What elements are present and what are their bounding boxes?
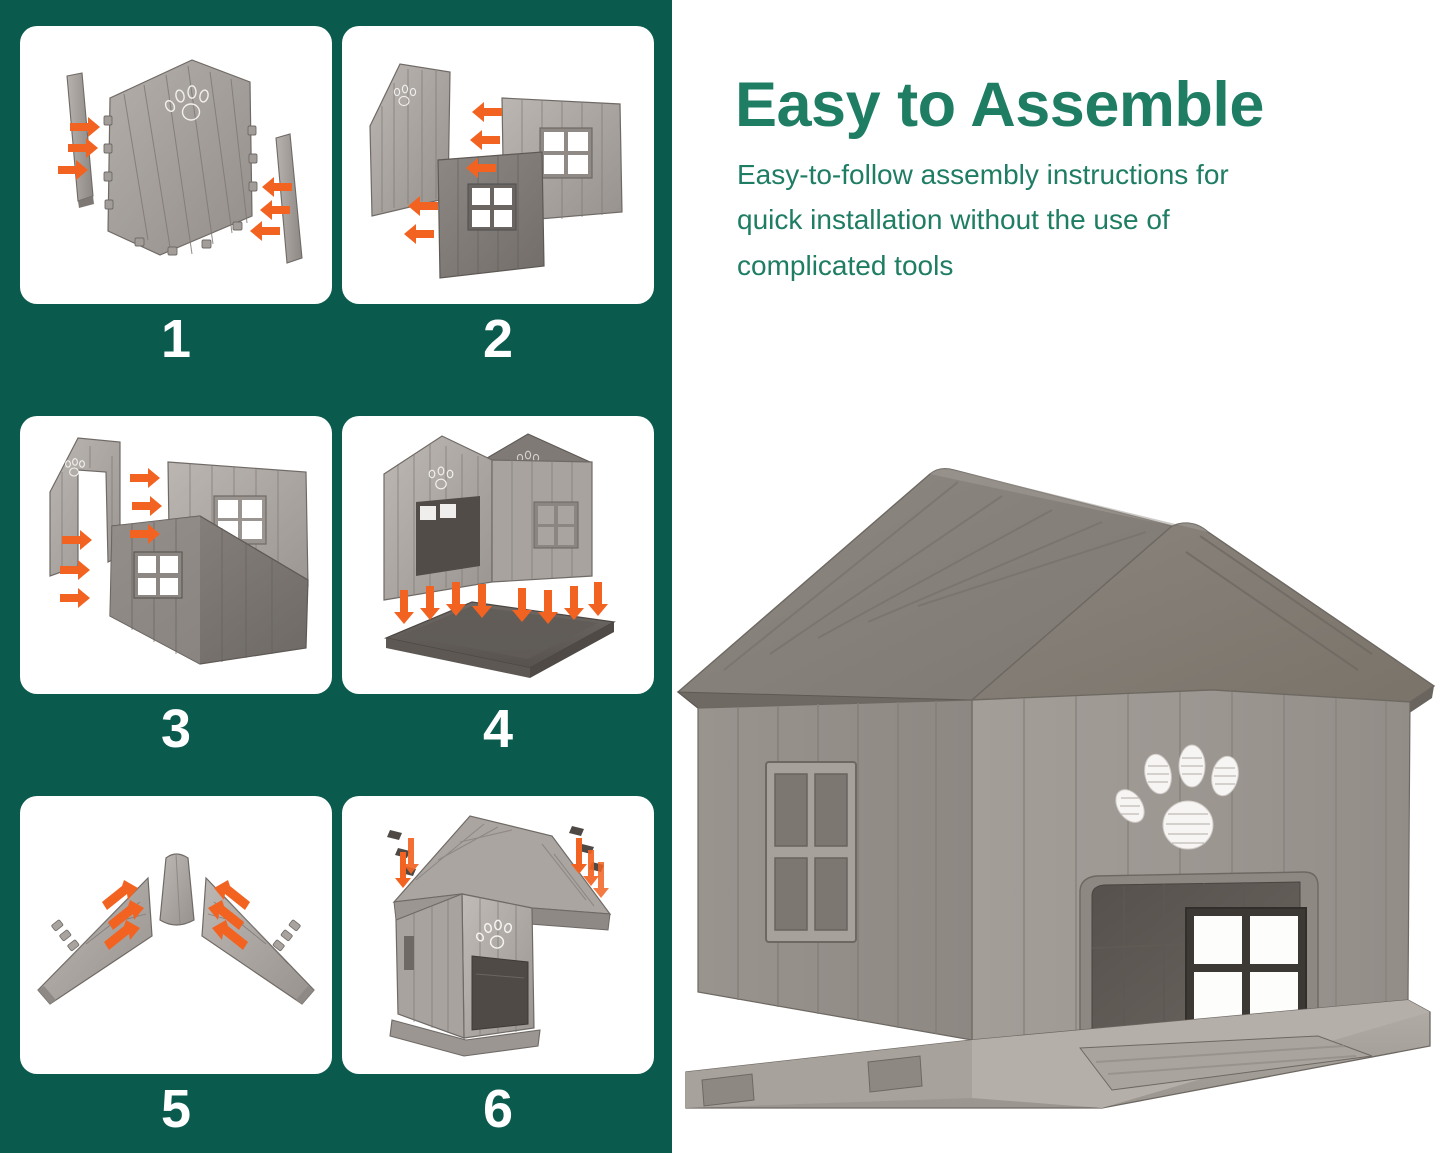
step-card-5 bbox=[20, 796, 332, 1074]
ridge-cap bbox=[160, 854, 194, 925]
hero-product-image bbox=[672, 440, 1445, 1153]
window-4-pane bbox=[540, 128, 592, 178]
step-number-5: 5 bbox=[20, 1082, 332, 1136]
base-floor-tray bbox=[386, 602, 614, 678]
subtitle-line-1: Easy-to-follow assembly instructions for bbox=[737, 152, 1417, 197]
window-4-pane bbox=[534, 502, 578, 548]
step-number-1: 1 bbox=[20, 312, 332, 366]
step-card-1 bbox=[20, 26, 332, 304]
step-number-3: 3 bbox=[20, 702, 332, 756]
step-number-4: 4 bbox=[342, 702, 654, 756]
side-rail-right bbox=[276, 134, 302, 263]
window-4-pane bbox=[134, 552, 182, 598]
back-panel-with-rails-illustration bbox=[20, 26, 332, 304]
left-side-wall bbox=[396, 894, 464, 1038]
front-gable-wall bbox=[384, 436, 492, 600]
window-4-pane bbox=[468, 184, 516, 230]
front-gable bbox=[462, 894, 534, 1038]
roof-assembly bbox=[678, 469, 1434, 714]
back-panel bbox=[104, 60, 257, 255]
right-side-wall bbox=[492, 460, 592, 582]
roof-panel-right bbox=[202, 878, 314, 1004]
assembly-steps-panel: 1 bbox=[0, 0, 672, 1153]
finished-dog-house-with-screws-illustration bbox=[342, 796, 654, 1074]
side-rail-left bbox=[67, 73, 94, 208]
interior-window-4-pane bbox=[1186, 908, 1306, 1026]
page-subtitle: Easy-to-follow assembly instructions for… bbox=[737, 152, 1417, 288]
step-card-3 bbox=[20, 416, 332, 694]
step-card-6 bbox=[342, 796, 654, 1074]
side-window-4-pane bbox=[766, 762, 856, 942]
front-gable-wall bbox=[972, 690, 1410, 1060]
left-side-wall bbox=[698, 700, 972, 1040]
roof-panels-and-ridge-illustration bbox=[20, 796, 332, 1074]
page-title: Easy to Assemble bbox=[735, 72, 1395, 138]
step-number-6: 6 bbox=[342, 1082, 654, 1136]
dog-house-render bbox=[672, 440, 1445, 1153]
subtitle-line-3: complicated tools bbox=[737, 243, 1417, 288]
step-card-4 bbox=[342, 416, 654, 694]
front-wall-attach-illustration bbox=[20, 416, 332, 694]
roof-panel-left bbox=[38, 878, 152, 1004]
front-wall-with-doorway bbox=[50, 438, 120, 576]
step-card-2 bbox=[342, 26, 654, 304]
subtitle-line-2: quick installation without the use of bbox=[737, 197, 1417, 242]
walls-onto-base-illustration bbox=[342, 416, 654, 694]
side-walls-attach-illustration bbox=[342, 26, 654, 304]
step-number-2: 2 bbox=[342, 312, 654, 366]
